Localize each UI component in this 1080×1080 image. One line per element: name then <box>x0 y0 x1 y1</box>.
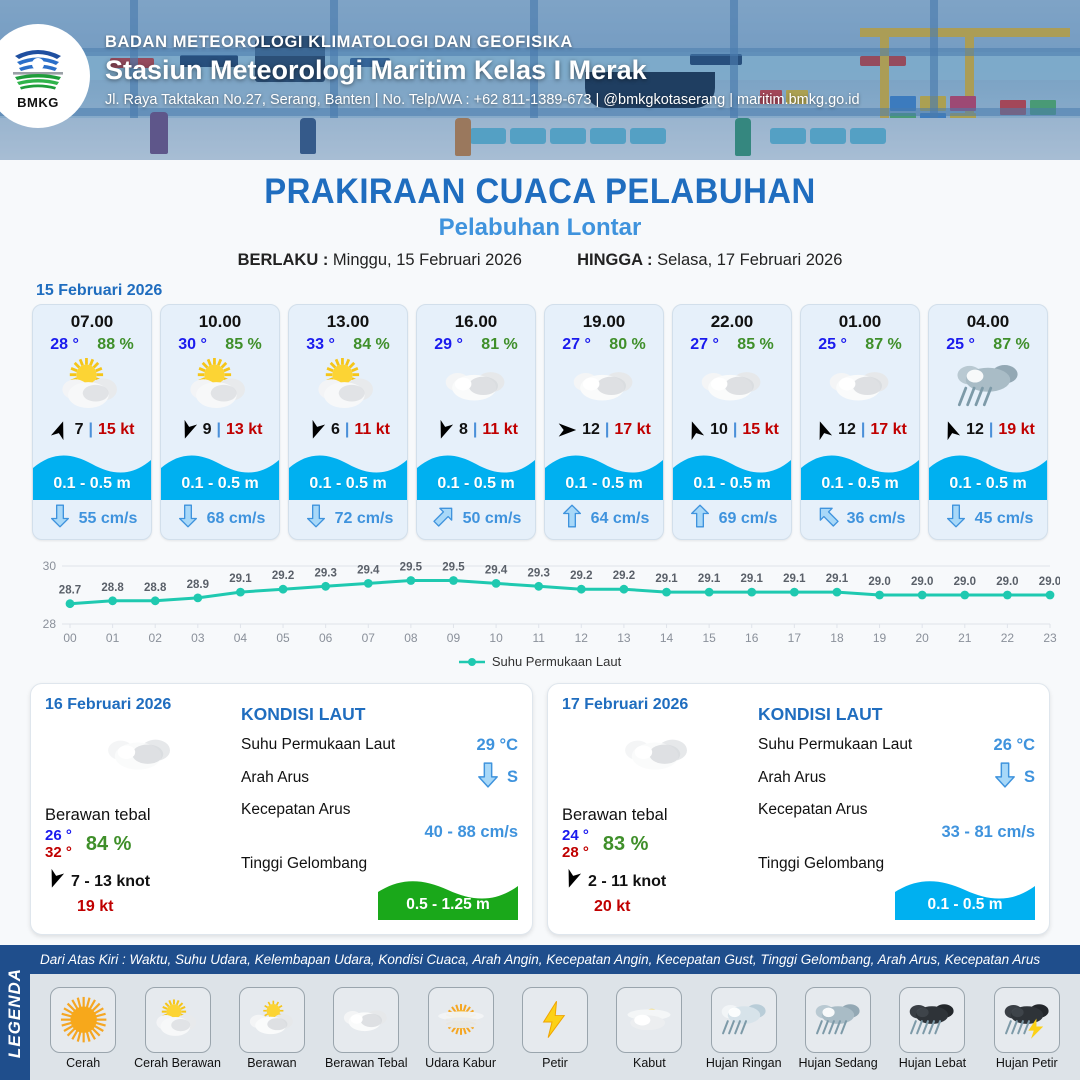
hourly-card[interactable]: 10.00 30 ° 85 % 9 | 13 kt 0.1 - 0.5 m 68… <box>160 304 280 540</box>
daily-temperature-block: 24 ° 28 ° 83 % <box>562 827 752 861</box>
card-air-temperature: 27 ° <box>562 336 591 354</box>
card-air-temperature: 33 ° <box>306 336 335 354</box>
svg-text:15: 15 <box>702 631 716 645</box>
card-current-row: 69 cm/s <box>673 500 791 539</box>
card-wind-separator: | <box>861 421 865 439</box>
current-direction-arrow-icon <box>815 506 841 531</box>
agency-name: BADAN METEOROLOGI KLIMATOLOGI DAN GEOFIS… <box>105 33 860 52</box>
daily-temp-min: 24 ° <box>562 827 589 844</box>
hourly-card[interactable]: 22.00 27 ° 85 % 10 | 15 kt 0.1 - 0.5 m 6… <box>672 304 792 540</box>
current-speed-value-row: 33 - 81 cm/s <box>758 816 1035 848</box>
wind-direction-arrow-icon <box>434 420 454 440</box>
daily-wave-badge: 0.1 - 0.5 m <box>895 876 1035 920</box>
card-wave-height: 0.1 - 0.5 m <box>161 475 279 493</box>
daily-wave-height: 0.5 - 1.25 m <box>378 896 518 914</box>
daily-humidity: 84 % <box>86 833 132 856</box>
hourly-forecast-row: 07.00 28 ° 88 % 7 | 15 kt 0.1 - 0.5 m 55… <box>0 304 1080 540</box>
card-current-speed: 72 cm/s <box>335 510 394 528</box>
wind-direction-arrow-icon <box>178 420 198 440</box>
svg-text:10: 10 <box>489 631 503 645</box>
sun-cloud-icon <box>145 987 211 1053</box>
legend-line-marker-icon <box>459 657 485 667</box>
legend-item-label: Berawan Tebal <box>325 1056 407 1070</box>
daily-wind-speed: 2 - 11 knot <box>588 873 666 891</box>
cloud-icon <box>545 354 663 416</box>
svg-text:29.0: 29.0 <box>1039 576 1060 588</box>
card-air-temperature: 25 ° <box>946 336 975 354</box>
hingga-value: Selasa, 17 Februari 2026 <box>657 251 842 269</box>
card-wave-block: 0.1 - 0.5 m <box>417 446 535 500</box>
legend-item: Petir <box>508 987 602 1070</box>
card-wind-separator: | <box>605 421 609 439</box>
legend-note: Dari Atas Kiri : Waktu, Suhu Udara, Kele… <box>30 945 1080 974</box>
card-wave-height: 0.1 - 0.5 m <box>417 475 535 493</box>
daily-wave-height: 0.1 - 0.5 m <box>895 896 1035 914</box>
rain-cloud-icon <box>929 354 1047 416</box>
daily-date: 16 Februari 2026 <box>45 696 235 714</box>
sst-row: Suhu Permukaan Laut 29 °C <box>241 729 518 761</box>
card-time: 22.00 <box>673 305 791 332</box>
svg-text:09: 09 <box>447 631 461 645</box>
title-section: PRAKIRAAN CUACA PELABUHAN Pelabuhan Lont… <box>0 160 1080 270</box>
svg-text:29.1: 29.1 <box>826 573 849 585</box>
card-gust-speed: 11 kt <box>482 421 518 439</box>
card-current-speed: 55 cm/s <box>79 510 138 528</box>
daily-wind-speed: 7 - 13 knot <box>71 873 150 891</box>
svg-text:29.0: 29.0 <box>996 576 1018 588</box>
svg-text:20: 20 <box>915 631 929 645</box>
legend-item-label: Hujan Ringan <box>706 1056 782 1070</box>
card-wind-speed: 9 <box>203 421 212 439</box>
card-wave-block: 0.1 - 0.5 m <box>801 446 919 500</box>
card-time: 16.00 <box>417 305 535 332</box>
card-air-temperature: 27 ° <box>690 336 719 354</box>
legend-body: Dari Atas Kiri : Waktu, Suhu Udara, Kele… <box>30 945 1080 1080</box>
card-wave-block: 0.1 - 0.5 m <box>545 446 663 500</box>
svg-text:19: 19 <box>873 631 887 645</box>
card-wave-height: 0.1 - 0.5 m <box>545 475 663 493</box>
sst-label: Suhu Permukaan Laut <box>758 736 912 754</box>
daily-gust-speed: 20 kt <box>594 898 752 916</box>
wind-direction-arrow-icon <box>941 420 961 440</box>
daily-forecast-row: 16 Februari 2026 Berawan tebal 26 ° 32 °… <box>0 669 1080 935</box>
port-name: Pelabuhan Lontar <box>0 214 1080 242</box>
card-temp-humidity: 25 ° 87 % <box>929 332 1047 354</box>
card-wave-height: 0.1 - 0.5 m <box>289 475 407 493</box>
svg-text:18: 18 <box>830 631 844 645</box>
svg-text:03: 03 <box>191 631 205 645</box>
card-air-temperature: 29 ° <box>434 336 463 354</box>
legend-item: Berawan Tebal <box>319 987 413 1070</box>
cloud-icon <box>45 722 235 784</box>
card-wind-row: 9 | 13 kt <box>161 416 279 446</box>
cloud-icon <box>562 722 752 784</box>
legend-tab: LEGENDA <box>0 945 30 1080</box>
svg-text:29.3: 29.3 <box>314 567 336 579</box>
current-direction-arrow-icon <box>994 761 1016 794</box>
daily-sea-conditions: KONDISI LAUT Suhu Permukaan Laut 26 °C A… <box>752 696 1035 920</box>
svg-text:29.5: 29.5 <box>400 562 423 574</box>
current-speed-value: 33 - 81 cm/s <box>941 823 1035 842</box>
station-name: Stasiun Meteorologi Maritim Kelas I Mera… <box>105 55 860 86</box>
card-temp-humidity: 33 ° 84 % <box>289 332 407 354</box>
card-wave-height: 0.1 - 0.5 m <box>929 475 1047 493</box>
daily-forecast-card[interactable]: 17 Februari 2026 Berawan tebal 24 ° 28 °… <box>547 683 1050 935</box>
daily-humidity: 83 % <box>603 833 649 856</box>
card-current-row: 45 cm/s <box>929 500 1047 539</box>
daily-temperature-block: 26 ° 32 ° 84 % <box>45 827 235 861</box>
current-direction-value-group: S <box>994 761 1035 794</box>
card-wind-separator: | <box>733 421 737 439</box>
card-wind-row: 7 | 15 kt <box>33 416 151 446</box>
hourly-date-label: 15 Februari 2026 <box>36 282 1080 300</box>
card-humidity: 87 % <box>993 336 1029 354</box>
svg-text:29.4: 29.4 <box>485 564 508 576</box>
card-wind-row: 12 | 17 kt <box>545 416 663 446</box>
current-direction-value: S <box>507 768 518 787</box>
daily-condition: Berawan tebal <box>562 806 752 825</box>
card-current-speed: 50 cm/s <box>463 510 522 528</box>
hourly-card[interactable]: 16.00 29 ° 81 % 8 | 11 kt 0.1 - 0.5 m 50… <box>416 304 536 540</box>
card-wind-separator: | <box>345 421 349 439</box>
current-speed-label: Kecepatan Arus <box>241 801 350 819</box>
svg-text:02: 02 <box>149 631 163 645</box>
legend-item-label: Kabut <box>633 1056 666 1070</box>
legend-item: Cerah Berawan <box>130 987 224 1070</box>
sst-value: 26 °C <box>994 736 1035 755</box>
card-wind-row: 12 | 17 kt <box>801 416 919 446</box>
chart-legend-label: Suhu Permukaan Laut <box>492 654 621 669</box>
svg-text:22: 22 <box>1001 631 1015 645</box>
sun-icon <box>50 987 116 1053</box>
current-speed-value-row: 40 - 88 cm/s <box>241 816 518 848</box>
svg-text:29.1: 29.1 <box>655 573 678 585</box>
wind-direction-arrow-icon <box>50 420 70 440</box>
legend-item-label: Hujan Petir <box>996 1056 1058 1070</box>
sea-conditions-title: KONDISI LAUT <box>758 704 1035 725</box>
current-direction-row: Arah Arus S <box>241 761 518 794</box>
legend-item: Kabut <box>602 987 696 1070</box>
hingga-label: HINGGA : <box>577 251 652 269</box>
svg-text:29.0: 29.0 <box>911 576 933 588</box>
bmkg-logo-mark <box>7 42 69 94</box>
svg-text:28.7: 28.7 <box>59 585 81 597</box>
current-direction-value: S <box>1024 768 1035 787</box>
svg-text:07: 07 <box>362 631 376 645</box>
svg-text:29.2: 29.2 <box>613 570 635 582</box>
svg-text:28.9: 28.9 <box>187 579 209 591</box>
wave-height-label: Tinggi Gelombang <box>758 855 884 873</box>
card-wave-height: 0.1 - 0.5 m <box>673 475 791 493</box>
legend-item: Hujan Ringan <box>697 987 791 1070</box>
daily-left-column: 17 Februari 2026 Berawan tebal 24 ° 28 °… <box>562 696 752 920</box>
current-speed-value: 40 - 88 cm/s <box>424 823 518 842</box>
svg-text:29.1: 29.1 <box>741 573 764 585</box>
card-gust-speed: 19 kt <box>998 421 1034 439</box>
card-temp-humidity: 27 ° 80 % <box>545 332 663 354</box>
wind-direction-arrow-icon <box>306 420 326 440</box>
wind-direction-arrow-icon <box>45 869 65 894</box>
legend-item: Udara Kabur <box>413 987 507 1070</box>
card-wind-separator: | <box>989 421 993 439</box>
card-current-row: 72 cm/s <box>289 500 407 539</box>
legend-item: Hujan Petir <box>980 987 1074 1070</box>
card-current-row: 36 cm/s <box>801 500 919 539</box>
svg-text:28.8: 28.8 <box>101 582 124 594</box>
card-wind-separator: | <box>88 421 92 439</box>
card-wind-speed: 7 <box>75 421 84 439</box>
card-time: 04.00 <box>929 305 1047 332</box>
card-current-speed: 64 cm/s <box>591 510 650 528</box>
card-temp-humidity: 30 ° 85 % <box>161 332 279 354</box>
lightning-icon <box>522 987 588 1053</box>
thunderstorm-icon <box>994 987 1060 1053</box>
sst-chart: 302828.70028.80128.80228.90329.10429.205… <box>20 552 1060 652</box>
legend-item-label: Cerah <box>66 1056 100 1070</box>
svg-text:29.0: 29.0 <box>868 576 890 588</box>
daily-temp-min: 26 ° <box>45 827 72 844</box>
hourly-card[interactable]: 07.00 28 ° 88 % 7 | 15 kt 0.1 - 0.5 m 55… <box>32 304 152 540</box>
sst-value: 29 °C <box>477 736 518 755</box>
card-humidity: 87 % <box>865 336 901 354</box>
sea-conditions-title: KONDISI LAUT <box>241 704 518 725</box>
wind-direction-arrow-icon <box>562 869 582 894</box>
card-wind-speed: 12 <box>838 421 856 439</box>
legend-item-label: Cerah Berawan <box>134 1056 221 1070</box>
haze-icon <box>428 987 494 1053</box>
legend-item: Berawan <box>225 987 319 1070</box>
daily-left-column: 16 Februari 2026 Berawan tebal 26 ° 32 °… <box>45 696 235 920</box>
bmkg-logo-text: BMKG <box>17 95 59 110</box>
page-title: PRAKIRAAN CUACA PELABUHAN <box>32 172 1047 212</box>
card-humidity: 80 % <box>609 336 645 354</box>
card-time: 13.00 <box>289 305 407 332</box>
sun-cloud-icon <box>161 354 279 416</box>
heavy-rain-icon <box>899 987 965 1053</box>
sst-label: Suhu Permukaan Laut <box>241 736 395 754</box>
card-current-row: 68 cm/s <box>161 500 279 539</box>
card-humidity: 88 % <box>97 336 133 354</box>
current-direction-arrow-icon <box>687 506 713 531</box>
daily-wave-badge: 0.5 - 1.25 m <box>378 876 518 920</box>
card-time: 07.00 <box>33 305 151 332</box>
svg-text:21: 21 <box>958 631 972 645</box>
svg-text:01: 01 <box>106 631 120 645</box>
daily-sea-conditions: KONDISI LAUT Suhu Permukaan Laut 29 °C A… <box>235 696 518 920</box>
card-wave-block: 0.1 - 0.5 m <box>33 446 151 500</box>
card-wind-speed: 6 <box>331 421 340 439</box>
card-wave-block: 0.1 - 0.5 m <box>929 446 1047 500</box>
card-wave-block: 0.1 - 0.5 m <box>673 446 791 500</box>
svg-text:17: 17 <box>788 631 802 645</box>
svg-text:23: 23 <box>1043 631 1057 645</box>
card-humidity: 84 % <box>353 336 389 354</box>
header-text-block: BADAN METEOROLOGI KLIMATOLOGI DAN GEOFIS… <box>105 33 860 108</box>
card-wind-speed: 10 <box>710 421 728 439</box>
current-direction-arrow-icon <box>559 506 585 531</box>
svg-text:11: 11 <box>532 631 545 645</box>
card-temp-humidity: 28 ° 88 % <box>33 332 151 354</box>
daily-gust-speed: 19 kt <box>77 898 235 916</box>
daily-temp-max: 28 ° <box>562 844 589 861</box>
card-wind-row: 12 | 19 kt <box>929 416 1047 446</box>
legend-item-label: Udara Kabur <box>425 1056 496 1070</box>
berlaku-label: BERLAKU : <box>238 251 329 269</box>
card-gust-speed: 17 kt <box>870 421 906 439</box>
svg-text:16: 16 <box>745 631 759 645</box>
card-time: 19.00 <box>545 305 663 332</box>
current-direction-label: Arah Arus <box>241 769 309 787</box>
card-wind-speed: 12 <box>582 421 600 439</box>
card-gust-speed: 11 kt <box>354 421 390 439</box>
hourly-card[interactable]: 04.00 25 ° 87 % 12 | 19 kt 0.1 - 0.5 m 4… <box>928 304 1048 540</box>
daily-temp-range: 24 ° 28 ° <box>562 827 589 861</box>
card-time: 01.00 <box>801 305 919 332</box>
current-direction-value-group: S <box>477 761 518 794</box>
svg-text:29.2: 29.2 <box>570 570 592 582</box>
daily-temp-range: 26 ° 32 ° <box>45 827 72 861</box>
card-wind-row: 6 | 11 kt <box>289 416 407 446</box>
fog-icon <box>616 987 682 1053</box>
card-current-row: 50 cm/s <box>417 500 535 539</box>
svg-text:30: 30 <box>43 559 57 573</box>
current-direction-arrow-icon <box>303 506 329 531</box>
card-temp-humidity: 25 ° 87 % <box>801 332 919 354</box>
wind-direction-arrow-icon <box>685 420 705 440</box>
svg-text:29.4: 29.4 <box>357 564 380 576</box>
moderate-rain-icon <box>805 987 871 1053</box>
card-air-temperature: 25 ° <box>818 336 847 354</box>
sun-cloud-icon <box>289 354 407 416</box>
current-direction-arrow-icon <box>47 506 73 531</box>
svg-text:28.8: 28.8 <box>144 582 167 594</box>
legend-item-label: Berawan <box>247 1056 296 1070</box>
card-air-temperature: 30 ° <box>178 336 207 354</box>
card-air-temperature: 28 ° <box>50 336 79 354</box>
svg-text:29.1: 29.1 <box>229 573 252 585</box>
card-wave-block: 0.1 - 0.5 m <box>161 446 279 500</box>
card-current-speed: 45 cm/s <box>975 510 1034 528</box>
card-humidity: 85 % <box>737 336 773 354</box>
sun-cloud-icon <box>33 354 151 416</box>
svg-text:29.1: 29.1 <box>783 573 806 585</box>
svg-text:04: 04 <box>234 631 248 645</box>
berlaku-value: Minggu, 15 Februari 2026 <box>333 251 522 269</box>
wind-direction-arrow-icon <box>813 420 833 440</box>
svg-text:12: 12 <box>575 631 589 645</box>
light-rain-icon <box>711 987 777 1053</box>
card-wave-height: 0.1 - 0.5 m <box>33 475 151 493</box>
current-direction-arrow-icon <box>175 506 201 531</box>
card-current-row: 55 cm/s <box>33 500 151 539</box>
svg-text:29.0: 29.0 <box>954 576 976 588</box>
legend-tab-label: LEGENDA <box>5 967 25 1057</box>
card-wind-separator: | <box>216 421 220 439</box>
cloud-icon <box>801 354 919 416</box>
daily-forecast-card[interactable]: 16 Februari 2026 Berawan tebal 26 ° 32 °… <box>30 683 533 935</box>
sst-row: Suhu Permukaan Laut 26 °C <box>758 729 1035 761</box>
svg-text:00: 00 <box>63 631 77 645</box>
card-temp-humidity: 29 ° 81 % <box>417 332 535 354</box>
card-gust-speed: 13 kt <box>226 421 262 439</box>
daily-temp-max: 32 ° <box>45 844 72 861</box>
page-header: BMKG BADAN METEOROLOGI KLIMATOLOGI DAN G… <box>0 0 1080 160</box>
svg-text:29.5: 29.5 <box>442 562 465 574</box>
svg-text:29.1: 29.1 <box>698 573 721 585</box>
daily-date: 17 Februari 2026 <box>562 696 752 714</box>
current-direction-label: Arah Arus <box>758 769 826 787</box>
card-current-row: 64 cm/s <box>545 500 663 539</box>
card-current-speed: 69 cm/s <box>719 510 778 528</box>
current-direction-row: Arah Arus S <box>758 761 1035 794</box>
wind-direction-arrow-icon <box>557 420 577 440</box>
daily-wind-row: 2 - 11 knot <box>562 869 752 894</box>
card-current-speed: 68 cm/s <box>207 510 266 528</box>
validity-row: BERLAKU : Minggu, 15 Februari 2026 HINGG… <box>0 251 1080 270</box>
current-speed-label: Kecepatan Arus <box>758 801 867 819</box>
cloud-icon <box>333 987 399 1053</box>
card-wind-row: 8 | 11 kt <box>417 416 535 446</box>
chart-legend: Suhu Permukaan Laut <box>0 654 1080 669</box>
card-time: 10.00 <box>161 305 279 332</box>
svg-text:14: 14 <box>660 631 674 645</box>
legend-item-label: Hujan Lebat <box>899 1056 966 1070</box>
current-direction-arrow-icon <box>943 506 969 531</box>
card-gust-speed: 15 kt <box>742 421 778 439</box>
card-temp-humidity: 27 ° 85 % <box>673 332 791 354</box>
legend-bar: LEGENDA Dari Atas Kiri : Waktu, Suhu Uda… <box>0 945 1080 1080</box>
card-gust-speed: 15 kt <box>98 421 134 439</box>
legend-item: Hujan Sedang <box>791 987 885 1070</box>
current-direction-arrow-icon <box>431 506 457 531</box>
hourly-card[interactable]: 01.00 25 ° 87 % 12 | 17 kt 0.1 - 0.5 m 3… <box>800 304 920 540</box>
card-gust-speed: 17 kt <box>614 421 650 439</box>
svg-text:08: 08 <box>404 631 418 645</box>
sst-chart-svg: 302828.70028.80128.80228.90329.10429.205… <box>20 552 1060 652</box>
contact-info: Jl. Raya Taktakan No.27, Serang, Banten … <box>105 92 860 108</box>
daily-condition: Berawan tebal <box>45 806 235 825</box>
current-direction-arrow-icon <box>477 761 499 794</box>
legend-item: Cerah <box>36 987 130 1070</box>
hourly-card[interactable]: 13.00 33 ° 84 % 6 | 11 kt 0.1 - 0.5 m 72… <box>288 304 408 540</box>
daily-wind-row: 7 - 13 knot <box>45 869 235 894</box>
card-wind-separator: | <box>473 421 477 439</box>
card-current-speed: 36 cm/s <box>847 510 906 528</box>
legend-item-label: Petir <box>542 1056 568 1070</box>
svg-text:29.2: 29.2 <box>272 570 294 582</box>
svg-text:28: 28 <box>43 617 57 631</box>
wave-height-label: Tinggi Gelombang <box>241 855 367 873</box>
svg-text:06: 06 <box>319 631 333 645</box>
legend-item: Hujan Lebat <box>885 987 979 1070</box>
cloud-icon <box>673 354 791 416</box>
hourly-card[interactable]: 19.00 27 ° 80 % 12 | 17 kt 0.1 - 0.5 m 6… <box>544 304 664 540</box>
card-humidity: 81 % <box>481 336 517 354</box>
card-wind-row: 10 | 15 kt <box>673 416 791 446</box>
legend-items-row: Cerah Cerah Berawan Berawan Berawan Teba… <box>30 974 1080 1080</box>
svg-text:05: 05 <box>276 631 290 645</box>
card-humidity: 85 % <box>225 336 261 354</box>
card-wave-height: 0.1 - 0.5 m <box>801 475 919 493</box>
partly-cloud-icon <box>239 987 305 1053</box>
cloud-icon <box>417 354 535 416</box>
svg-text:29.3: 29.3 <box>528 567 550 579</box>
card-wave-block: 0.1 - 0.5 m <box>289 446 407 500</box>
svg-text:13: 13 <box>617 631 631 645</box>
card-wind-speed: 8 <box>459 421 468 439</box>
card-wind-speed: 12 <box>966 421 984 439</box>
legend-item-label: Hujan Sedang <box>798 1056 877 1070</box>
